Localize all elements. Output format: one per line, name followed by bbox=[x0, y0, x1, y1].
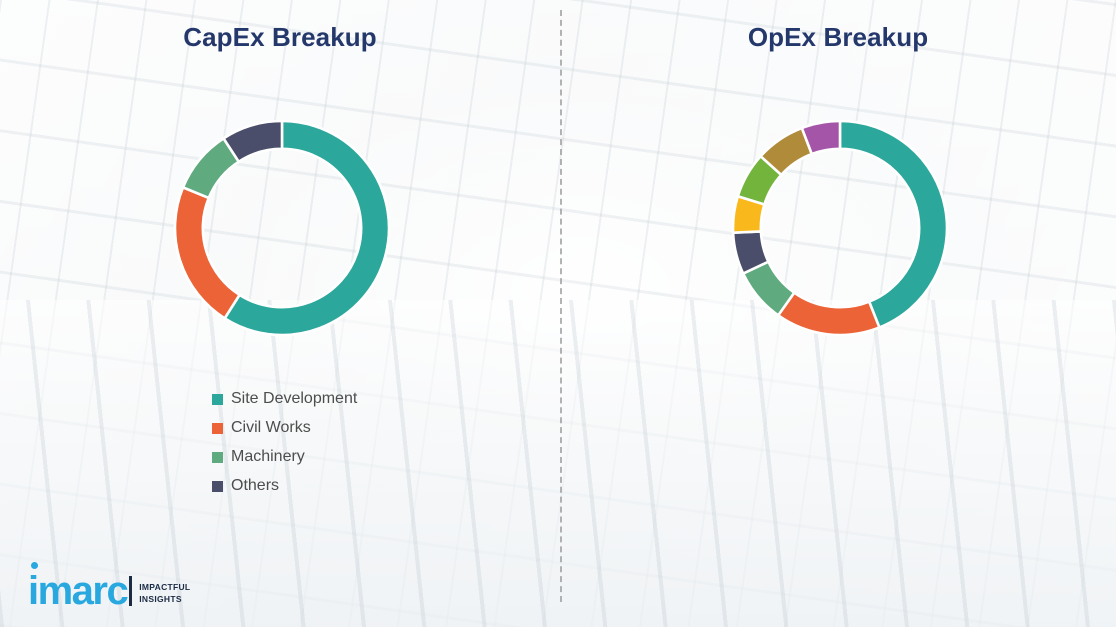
legend-item-label: Others bbox=[231, 477, 279, 495]
legend-swatch-icon bbox=[212, 423, 223, 434]
legend-swatch-icon bbox=[212, 394, 223, 405]
donut-slice[interactable] bbox=[778, 293, 879, 335]
legend-item[interactable]: Machinery bbox=[212, 448, 357, 466]
logo-tagline-line2: INSIGHTS bbox=[139, 594, 190, 605]
legend-item[interactable]: Civil Works bbox=[212, 419, 357, 437]
legend-swatch-icon bbox=[212, 481, 223, 492]
capex-chart-title: CapEx Breakup bbox=[0, 22, 560, 53]
capex-panel: CapEx Breakup Site DevelopmentCivil Work… bbox=[0, 0, 560, 627]
capex-donut-svg bbox=[154, 65, 410, 391]
logo-tagline-line1: IMPACTFUL bbox=[139, 582, 190, 593]
logo-wordmark-text: imarc bbox=[28, 569, 127, 613]
opex-donut-svg bbox=[712, 65, 968, 391]
logo-dot-icon bbox=[31, 562, 38, 569]
panel-divider bbox=[560, 10, 562, 602]
imarc-logo: imarc IMPACTFUL INSIGHTS bbox=[28, 573, 190, 609]
legend-item[interactable]: Others bbox=[212, 477, 357, 495]
capex-legend: Site DevelopmentCivil WorksMachineryOthe… bbox=[212, 390, 357, 506]
legend-item-label: Site Development bbox=[231, 390, 357, 408]
logo-wordmark: imarc bbox=[28, 573, 127, 609]
donut-slice[interactable] bbox=[840, 121, 947, 327]
legend-swatch-icon bbox=[212, 452, 223, 463]
legend-item[interactable]: Site Development bbox=[212, 390, 357, 408]
legend-item-label: Civil Works bbox=[231, 419, 311, 437]
donut-slice[interactable] bbox=[175, 187, 240, 318]
capex-donut-chart bbox=[154, 65, 410, 391]
opex-chart-title: OpEx Breakup bbox=[560, 22, 1116, 53]
logo-tagline: IMPACTFUL INSIGHTS bbox=[139, 582, 190, 605]
legend-item-label: Machinery bbox=[231, 448, 305, 466]
opex-panel: OpEx Breakup Raw MaterialsSalaries and W… bbox=[560, 0, 1116, 627]
logo-divider-bar bbox=[129, 576, 132, 606]
opex-donut-chart bbox=[712, 65, 968, 391]
slide-canvas: CapEx Breakup Site DevelopmentCivil Work… bbox=[0, 0, 1116, 627]
